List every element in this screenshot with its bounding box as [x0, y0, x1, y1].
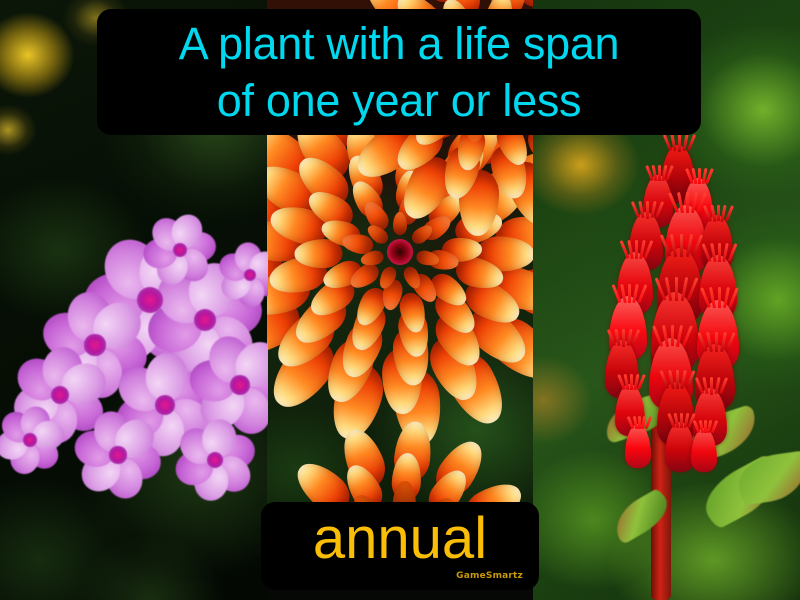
- term-banner: annual GameSmartz: [261, 502, 539, 590]
- definition-card: A plant with a life span of one year or …: [0, 0, 800, 600]
- definition-line-2: of one year or less: [217, 72, 582, 129]
- definition-line-1: A plant with a life span: [179, 15, 620, 72]
- watermark-label: GameSmartz: [456, 571, 523, 581]
- definition-banner: A plant with a life span of one year or …: [97, 9, 701, 135]
- term-label: annual: [261, 506, 539, 572]
